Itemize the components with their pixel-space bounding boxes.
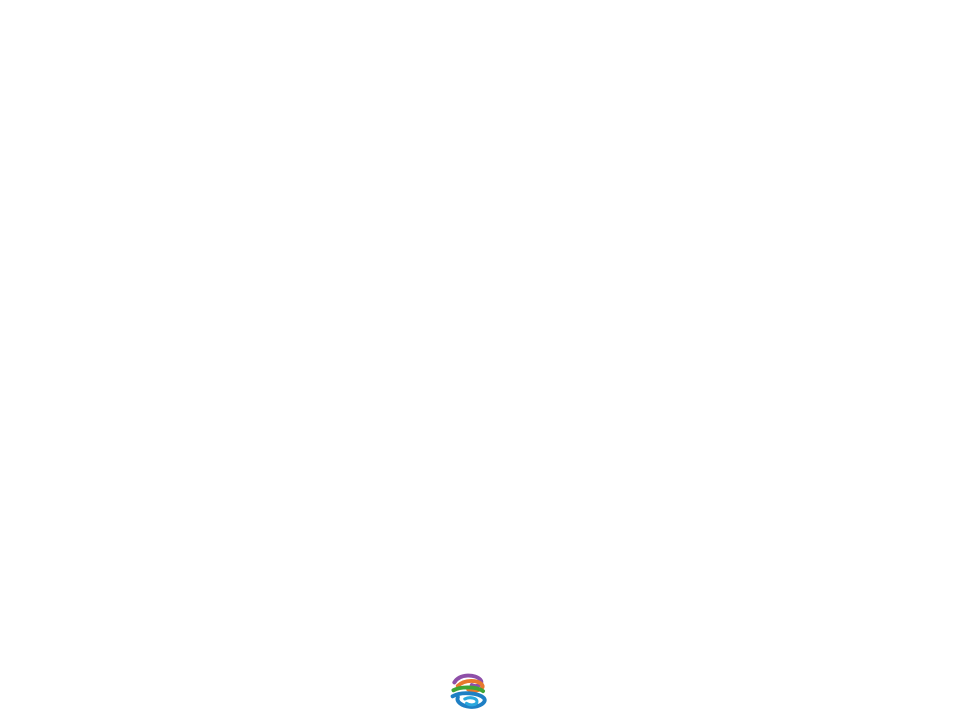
slide-root	[0, 0, 960, 720]
footer	[0, 672, 960, 712]
kaohsiung-city-logo-icon	[449, 672, 491, 712]
timeline-graphic	[0, 0, 960, 720]
